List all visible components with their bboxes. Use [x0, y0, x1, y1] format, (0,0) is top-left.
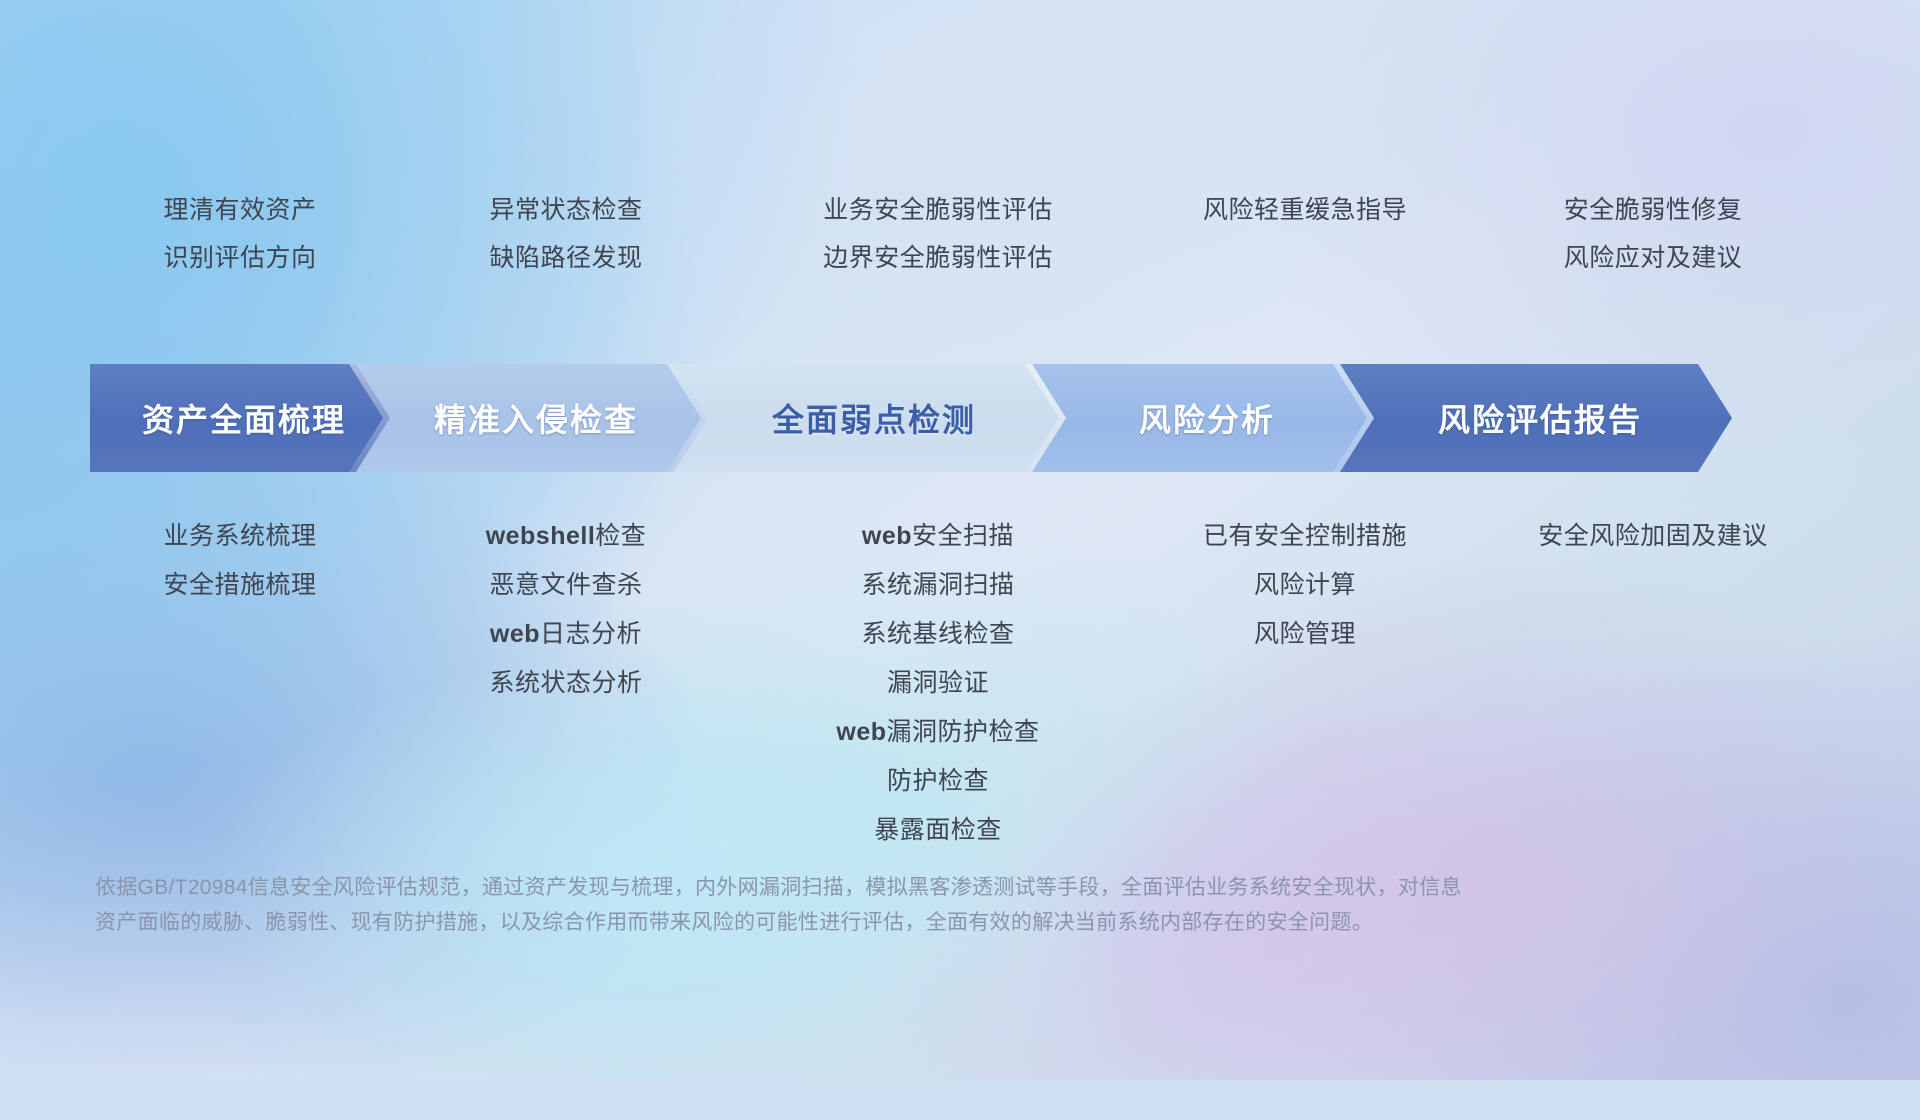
- stage-label: 全面弱点检测: [764, 395, 976, 441]
- bottom-detail-column-2: webshell检查 恶意文件查杀 web日志分析 系统状态分析: [390, 512, 742, 708]
- stage-label: 风险评估报告: [1430, 395, 1642, 441]
- top-output-line: 异常状态检查: [390, 186, 742, 234]
- detail-item: web漏洞防护检查: [742, 708, 1134, 757]
- top-output-line: 风险轻重缓急指导: [1134, 186, 1476, 234]
- diagram-stage: 理清有效资产 识别评估方向 异常状态检查 缺陷路径发现 业务安全脆弱性评估 边界…: [0, 0, 1920, 1080]
- top-output-column-4: 风险轻重缓急指导: [1134, 186, 1476, 282]
- top-output-line: 边界安全脆弱性评估: [742, 234, 1134, 282]
- detail-item: 漏洞验证: [742, 659, 1134, 708]
- detail-item: 风险计算: [1134, 561, 1476, 610]
- bottom-detail-column-3: web安全扫描 系统漏洞扫描 系统基线检查 漏洞验证 web漏洞防护检查 防护检…: [742, 512, 1134, 855]
- footer-note: 依据GB/T20984信息安全风险评估规范，通过资产发现与梳理，内外网漏洞扫描，…: [95, 870, 1615, 940]
- footer-line-2: 资产面临的威胁、脆弱性、现有防护措施，以及综合作用而带来风险的可能性进行评估，全…: [95, 905, 1615, 940]
- detail-item: 系统漏洞扫描: [742, 561, 1134, 610]
- bottom-details-row: 业务系统梳理 安全措施梳理 webshell检查 恶意文件查杀 web日志分析 …: [90, 512, 1830, 855]
- detail-item: 恶意文件查杀: [390, 561, 742, 610]
- stage-chevron-assessment-report[interactable]: 风险评估报告: [1340, 364, 1732, 472]
- detail-item: 安全风险加固及建议: [1476, 512, 1830, 561]
- bottom-detail-column-5: 安全风险加固及建议: [1476, 512, 1830, 561]
- top-output-line: 缺陷路径发现: [390, 234, 742, 282]
- top-outputs-row: 理清有效资产 识别评估方向 异常状态检查 缺陷路径发现 业务安全脆弱性评估 边界…: [90, 186, 1830, 282]
- detail-item: web安全扫描: [742, 512, 1134, 561]
- top-output-line: 识别评估方向: [90, 234, 390, 282]
- top-output-column-5: 安全脆弱性修复 风险应对及建议: [1476, 186, 1830, 282]
- detail-item: webshell检查: [390, 512, 742, 561]
- detail-item: 系统状态分析: [390, 659, 742, 708]
- detail-item: 业务系统梳理: [90, 512, 390, 561]
- bottom-detail-column-4: 已有安全控制措施 风险计算 风险管理: [1134, 512, 1476, 659]
- stage-chevron-asset-inventory[interactable]: 资产全面梳理: [90, 364, 390, 472]
- detail-item: 暴露面检查: [742, 806, 1134, 855]
- detail-item: 安全措施梳理: [90, 561, 390, 610]
- detail-item: web日志分析: [390, 610, 742, 659]
- stage-label: 精准入侵检查: [426, 395, 638, 441]
- top-output-column-2: 异常状态检查 缺陷路径发现: [390, 186, 742, 282]
- stage-chevron-weakness-detection[interactable]: 全面弱点检测: [674, 364, 1066, 472]
- stage-chevron-risk-analysis[interactable]: 风险分析: [1032, 364, 1374, 472]
- process-arrow-band: 资产全面梳理 精准入侵检查 全面弱点检测 风险分析 风险评估报告: [90, 364, 1834, 472]
- top-output-column-3: 业务安全脆弱性评估 边界安全脆弱性评估: [742, 186, 1134, 282]
- detail-item: 风险管理: [1134, 610, 1476, 659]
- detail-item: 防护检查: [742, 757, 1134, 806]
- stage-label: 风险分析: [1131, 395, 1275, 441]
- top-output-column-1: 理清有效资产 识别评估方向: [90, 186, 390, 282]
- detail-item: 已有安全控制措施: [1134, 512, 1476, 561]
- top-output-line: 安全脆弱性修复: [1476, 186, 1830, 234]
- top-output-line: 业务安全脆弱性评估: [742, 186, 1134, 234]
- detail-item: 系统基线检查: [742, 610, 1134, 659]
- stage-label: 资产全面梳理: [134, 395, 346, 441]
- top-output-line: 理清有效资产: [90, 186, 390, 234]
- bottom-detail-column-1: 业务系统梳理 安全措施梳理: [90, 512, 390, 610]
- top-output-line: 风险应对及建议: [1476, 234, 1830, 282]
- stage-chevron-intrusion-check[interactable]: 精准入侵检查: [356, 364, 708, 472]
- footer-line-1: 依据GB/T20984信息安全风险评估规范，通过资产发现与梳理，内外网漏洞扫描，…: [95, 870, 1615, 905]
